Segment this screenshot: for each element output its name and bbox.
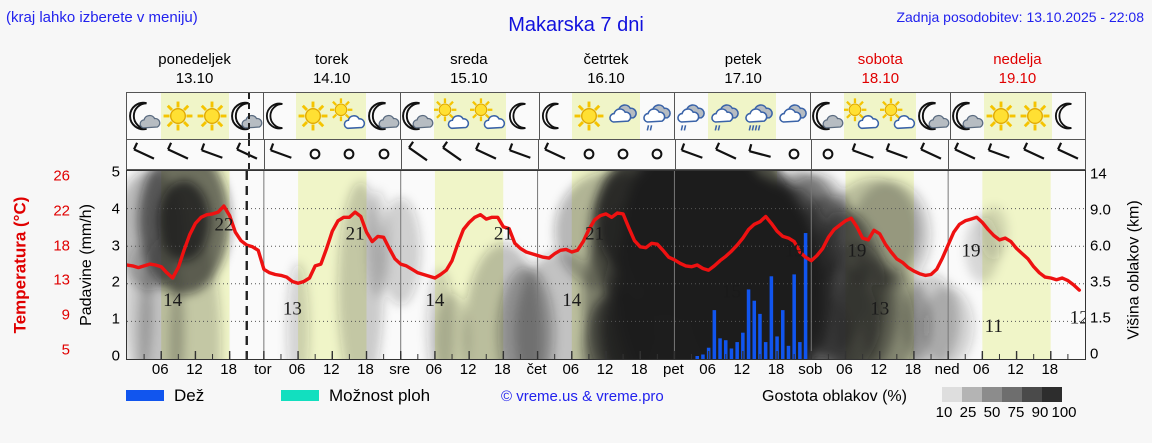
cloud-density-legend-title: Gostota oblakov (%) bbox=[762, 388, 907, 406]
day-separator bbox=[811, 140, 812, 169]
forecast-plot: 142213211421142115191319111912 bbox=[126, 170, 1086, 360]
precipitation-axis-title: Padavine (mm/h) bbox=[74, 170, 100, 360]
time-tick-label: 18 bbox=[631, 361, 648, 378]
wind-barb-icon bbox=[811, 140, 845, 168]
time-tick-label: 12 bbox=[460, 361, 477, 378]
day-header-sreda: sreda15.10 bbox=[400, 50, 537, 90]
temperature-point-label: 14 bbox=[425, 290, 445, 311]
time-tick-label: 06 bbox=[289, 361, 306, 378]
moon-cloud-icon bbox=[950, 99, 984, 133]
time-tick-label: 06 bbox=[973, 361, 990, 378]
temperature-point-label: 21 bbox=[346, 223, 365, 244]
precipitation-axis-ticks: 543210 bbox=[100, 170, 122, 360]
wind-barb-cell bbox=[846, 140, 880, 169]
temperature-point-label: 11 bbox=[985, 316, 1003, 337]
temperature-point-label: 21 bbox=[494, 223, 513, 244]
wind-barb-icon bbox=[161, 140, 195, 168]
weather-icon-cell bbox=[1052, 93, 1085, 139]
day-separator bbox=[401, 140, 402, 169]
weather-icon-cell bbox=[539, 93, 572, 139]
temperature-point-label: 19 bbox=[847, 241, 866, 262]
chart-legend: Dež Možnost ploh © vreme.us & vreme.pro … bbox=[126, 386, 1146, 426]
wind-barb-icon bbox=[127, 140, 161, 168]
wind-barb-icon bbox=[469, 140, 503, 168]
cloud-density-color-ramp bbox=[942, 387, 1062, 402]
wind-barb-icon bbox=[846, 140, 880, 168]
day-name: ponedeljek bbox=[126, 50, 263, 69]
sun-icon bbox=[296, 99, 330, 133]
wind-barb-cell bbox=[503, 140, 537, 169]
day-name: petek bbox=[675, 50, 812, 69]
temperature-point-label: 21 bbox=[585, 223, 604, 244]
wind-barb-cell bbox=[332, 140, 366, 169]
wind-barb-cell bbox=[640, 140, 674, 169]
weather-icon-cell bbox=[606, 93, 640, 139]
weather-icon-band bbox=[126, 92, 1086, 140]
cloud-height-tick: 14 bbox=[1090, 166, 1107, 183]
temperature-point-label: 15 bbox=[722, 281, 741, 302]
wind-barb-icon bbox=[332, 140, 366, 168]
day-separator bbox=[539, 93, 540, 139]
moon-icon bbox=[507, 100, 539, 132]
time-tick-label: 18 bbox=[905, 361, 922, 378]
precipitation-tick: 2 bbox=[112, 274, 120, 291]
time-tick-label: 12 bbox=[870, 361, 887, 378]
wind-barb-icon bbox=[538, 140, 572, 168]
day-separator bbox=[950, 93, 951, 139]
weather-icon-cell bbox=[161, 93, 195, 139]
wind-barb-icon bbox=[503, 140, 537, 168]
weather-icon-cell bbox=[1018, 93, 1052, 139]
wind-barb-icon bbox=[880, 140, 914, 168]
time-tick-label: 06 bbox=[699, 361, 716, 378]
temperature-point-label: 19 bbox=[785, 241, 804, 262]
cloud-icon bbox=[776, 99, 810, 133]
day-name: četrtek bbox=[537, 50, 674, 69]
cloud-density-ramp-label: 100 bbox=[1051, 404, 1076, 421]
weather-icon-cell bbox=[984, 93, 1018, 139]
wind-barb-cell bbox=[1017, 140, 1051, 169]
cloud-height-tick: 1.5 bbox=[1090, 310, 1111, 327]
time-tick-label: 06 bbox=[836, 361, 853, 378]
temperature-tick: 9 bbox=[62, 307, 70, 324]
wind-barb-cell bbox=[538, 140, 572, 169]
day-separator bbox=[264, 140, 265, 169]
day-header-ponedeljek: ponedeljek13.10 bbox=[126, 50, 263, 90]
wind-barb-cell bbox=[982, 140, 1016, 169]
wind-barb-cell bbox=[743, 140, 777, 169]
temperature-axis-title-text: Temperatura (°C) bbox=[10, 197, 30, 334]
temperature-tick: 5 bbox=[62, 342, 70, 359]
cloud-density-ramp-label: 75 bbox=[1008, 404, 1025, 421]
showers-legend-swatch bbox=[281, 390, 319, 401]
sun-icon bbox=[572, 99, 606, 133]
cloud-density-ramp-step bbox=[1022, 387, 1042, 402]
wind-barb-icon bbox=[195, 140, 229, 168]
weather-icon-cell bbox=[330, 93, 366, 139]
weather-icon-cell bbox=[127, 93, 161, 139]
day-separator bbox=[948, 140, 949, 169]
time-tick-label: ned bbox=[935, 361, 960, 378]
time-tick-label: tor bbox=[254, 361, 272, 378]
wind-barb-icon bbox=[777, 140, 811, 168]
day-header-torek: torek14.10 bbox=[263, 50, 400, 90]
moon-cloud-icon bbox=[127, 99, 161, 133]
day-header-petek: petek17.10 bbox=[675, 50, 812, 90]
rain-legend-swatch bbox=[126, 390, 164, 401]
temperature-point-label: 19 bbox=[961, 241, 980, 262]
weather-icon-cell bbox=[470, 93, 506, 139]
moon-cloud-icon bbox=[916, 99, 950, 133]
wind-barb-cell bbox=[606, 140, 640, 169]
last-update-stamp: Zadnja posodobitev: 13.10.2025 - 22:08 bbox=[896, 9, 1144, 25]
wind-barb-icon bbox=[982, 140, 1016, 168]
wind-barb-cell bbox=[811, 140, 845, 169]
wind-barb-icon bbox=[675, 140, 709, 168]
day-date: 16.10 bbox=[537, 69, 674, 88]
cloud-rain-light-icon bbox=[708, 99, 742, 133]
sun-icon bbox=[984, 99, 1018, 133]
time-tick-label: 18 bbox=[768, 361, 785, 378]
cloud-height-axis-ticks: 149.06.03.51.50 bbox=[1090, 170, 1122, 360]
time-tick-label: sre bbox=[389, 361, 410, 378]
time-tick-label: 06 bbox=[152, 361, 169, 378]
day-separator bbox=[263, 93, 264, 139]
weather-icon-cell bbox=[366, 93, 400, 139]
sun-cloud-icon bbox=[880, 98, 916, 134]
moon-cloud-icon bbox=[229, 99, 263, 133]
wind-barb-icon bbox=[948, 140, 982, 168]
weather-icon-cell bbox=[674, 93, 708, 139]
temperature-point-label: 13 bbox=[870, 299, 889, 320]
day-header-četrtek: četrtek16.10 bbox=[537, 50, 674, 90]
weather-icon-cell bbox=[742, 93, 776, 139]
cloud-density-ramp-label: 90 bbox=[1032, 404, 1049, 421]
temperature-tick: 26 bbox=[53, 168, 70, 185]
day-separator bbox=[674, 93, 675, 139]
sun-icon bbox=[1018, 99, 1052, 133]
wind-barb-cell bbox=[948, 140, 982, 169]
cloud-height-tick: 9.0 bbox=[1090, 202, 1111, 219]
sun-cloud-icon bbox=[844, 98, 880, 134]
cloud-density-ramp-step bbox=[1042, 387, 1062, 402]
sun-cloud-icon bbox=[330, 98, 366, 134]
time-tick-label: 12 bbox=[1007, 361, 1024, 378]
moon-icon bbox=[1053, 100, 1085, 132]
cloud-density-ramp-label: 10 bbox=[936, 404, 953, 421]
cloud-density-ramp-step bbox=[1002, 387, 1022, 402]
wind-barb-cell bbox=[914, 140, 948, 169]
cloud-density-ramp-label: 50 bbox=[984, 404, 1001, 421]
temperature-point-label: 14 bbox=[562, 290, 582, 311]
time-tick-label: 06 bbox=[562, 361, 579, 378]
sun-cloud-icon bbox=[470, 98, 506, 134]
wind-barb-icon bbox=[914, 140, 948, 168]
time-tick-label: 18 bbox=[494, 361, 511, 378]
weather-icon-cell bbox=[400, 93, 434, 139]
wind-barb-cell bbox=[1051, 140, 1085, 169]
cloud-icon bbox=[606, 99, 640, 133]
temperature-point-label: 22 bbox=[214, 215, 233, 236]
weather-icon-cell bbox=[844, 93, 880, 139]
weather-icon-cell bbox=[263, 93, 296, 139]
cloud-rain-icon bbox=[742, 99, 776, 133]
day-separator bbox=[810, 93, 811, 139]
sun-cloud-icon bbox=[434, 98, 470, 134]
wind-barb-cell bbox=[264, 140, 298, 169]
time-tick-label: čet bbox=[527, 361, 547, 378]
precipitation-tick: 3 bbox=[112, 237, 120, 254]
weather-icon-cell bbox=[506, 93, 539, 139]
day-header-sobota: sobota18.10 bbox=[812, 50, 949, 90]
wind-barb-icon bbox=[709, 140, 743, 168]
temperature-point-label: 13 bbox=[283, 299, 302, 320]
time-axis-labels: 061218tor061218sre061218čet061218pet0612… bbox=[126, 361, 1086, 381]
day-name: torek bbox=[263, 50, 400, 69]
wind-barb-cell bbox=[880, 140, 914, 169]
day-separator bbox=[675, 140, 676, 169]
weather-icon-cell bbox=[880, 93, 916, 139]
day-date: 15.10 bbox=[400, 69, 537, 88]
temperature-axis-title: Temperatura (°C) bbox=[6, 170, 34, 360]
wind-barb-icon bbox=[230, 140, 264, 168]
precipitation-tick: 1 bbox=[112, 311, 120, 328]
wind-barb-cell bbox=[435, 140, 469, 169]
wind-barb-icon bbox=[743, 140, 777, 168]
weather-icon-cell bbox=[776, 93, 810, 139]
day-separator bbox=[400, 93, 401, 139]
day-date: 13.10 bbox=[126, 69, 263, 88]
now-marker-wind-band bbox=[248, 140, 250, 169]
moon-icon bbox=[264, 100, 296, 132]
time-tick-label: 18 bbox=[357, 361, 374, 378]
day-separator bbox=[538, 140, 539, 169]
wind-barb-icon bbox=[572, 140, 606, 168]
cloud-density-ramp-step bbox=[942, 387, 962, 402]
moon-cloud-icon bbox=[400, 99, 434, 133]
now-marker-icon-band bbox=[248, 93, 250, 139]
wind-barb-icon bbox=[606, 140, 640, 168]
wind-barb-cell bbox=[161, 140, 195, 169]
sun-icon bbox=[195, 99, 229, 133]
cloud-density-ramp-label: 25 bbox=[960, 404, 977, 421]
day-name: nedelja bbox=[949, 50, 1086, 69]
day-header: ponedeljek13.10torek14.10sreda15.10četrt… bbox=[126, 50, 1086, 90]
day-date: 18.10 bbox=[812, 69, 949, 88]
temperature-point-label: 14 bbox=[163, 290, 183, 311]
wind-barb-icon bbox=[401, 140, 435, 168]
wind-barb-cell bbox=[675, 140, 709, 169]
time-tick-label: pet bbox=[663, 361, 684, 378]
precipitation-tick: 5 bbox=[112, 164, 120, 181]
temperature-axis-ticks: 2622181395 bbox=[36, 170, 70, 360]
wind-barb-cell bbox=[127, 140, 161, 169]
wind-barb-icon bbox=[435, 140, 469, 168]
precipitation-tick: 0 bbox=[112, 348, 120, 365]
moon-cloud-icon bbox=[366, 99, 400, 133]
moon-cloud-icon bbox=[810, 99, 844, 133]
moon-icon bbox=[540, 100, 572, 132]
wind-barb-cell bbox=[777, 140, 811, 169]
day-date: 17.10 bbox=[675, 69, 812, 88]
precipitation-tick: 4 bbox=[112, 200, 120, 217]
time-tick-label: 12 bbox=[734, 361, 751, 378]
weather-icon-cell bbox=[229, 93, 263, 139]
time-tick-label: 12 bbox=[186, 361, 203, 378]
day-header-nedelja: nedelja19.10 bbox=[949, 50, 1086, 90]
rain-legend-label: Dež bbox=[174, 386, 204, 406]
weather-icon-cell bbox=[916, 93, 950, 139]
temperature-tick: 18 bbox=[53, 237, 70, 254]
day-date: 14.10 bbox=[263, 69, 400, 88]
weather-icon-cell bbox=[810, 93, 844, 139]
time-tick-label: 18 bbox=[1041, 361, 1058, 378]
time-tick-label: sob bbox=[798, 361, 822, 378]
wind-barb-icon bbox=[367, 140, 401, 168]
cloud-height-axis-title-text: Višina oblakov (km) bbox=[1126, 200, 1144, 339]
wind-barb-icon bbox=[264, 140, 298, 168]
wind-barb-icon bbox=[298, 140, 332, 168]
weather-icon-cell bbox=[572, 93, 606, 139]
showers-legend-label: Možnost ploh bbox=[329, 386, 430, 406]
precipitation-axis-title-text: Padavine (mm/h) bbox=[78, 204, 96, 326]
cloud-rain-light-icon bbox=[674, 99, 708, 133]
wind-barb-cell bbox=[709, 140, 743, 169]
wind-barb-cell bbox=[195, 140, 229, 169]
sun-icon bbox=[161, 99, 195, 133]
temperature-tick: 13 bbox=[53, 272, 70, 289]
cloud-density-ramp-step bbox=[982, 387, 1002, 402]
wind-barb-cell bbox=[298, 140, 332, 169]
wind-barb-icon bbox=[1017, 140, 1051, 168]
weather-icon-cell bbox=[708, 93, 742, 139]
weather-icon-cell bbox=[950, 93, 984, 139]
plot-canvas: 142213211421142115191319111912 bbox=[127, 171, 1085, 359]
cloud-density-ramp-step bbox=[962, 387, 982, 402]
wind-barb-cell bbox=[572, 140, 606, 169]
time-tick-label: 06 bbox=[426, 361, 443, 378]
cloud-density-ramp-labels: 1025507590100 bbox=[932, 404, 1082, 422]
weather-icon-cell bbox=[640, 93, 674, 139]
temperature-tick: 22 bbox=[53, 202, 70, 219]
time-tick-label: 12 bbox=[597, 361, 614, 378]
time-tick-label: 12 bbox=[323, 361, 340, 378]
day-date: 19.10 bbox=[949, 69, 1086, 88]
day-name: sreda bbox=[400, 50, 537, 69]
weather-icon-cell bbox=[296, 93, 330, 139]
wind-barb-cell bbox=[401, 140, 435, 169]
wind-barb-cell bbox=[469, 140, 503, 169]
wind-barb-cell bbox=[367, 140, 401, 169]
wind-barb-icon bbox=[640, 140, 674, 168]
day-name: sobota bbox=[812, 50, 949, 69]
cloud-rain-light-icon bbox=[640, 99, 674, 133]
wind-barb-band bbox=[126, 140, 1086, 170]
time-tick-label: 18 bbox=[220, 361, 237, 378]
cloud-height-axis-title: Višina oblakov (km) bbox=[1120, 170, 1150, 370]
weather-icon-cell bbox=[434, 93, 470, 139]
wind-barb-icon bbox=[1051, 140, 1085, 168]
weather-icon-cell bbox=[195, 93, 229, 139]
temperature-point-label: 12 bbox=[1070, 307, 1085, 328]
cloud-height-tick: 3.5 bbox=[1090, 274, 1111, 291]
cloud-height-tick: 0 bbox=[1090, 346, 1098, 363]
copyright-link[interactable]: © vreme.us & vreme.pro bbox=[501, 388, 664, 405]
cloud-height-tick: 6.0 bbox=[1090, 238, 1111, 255]
